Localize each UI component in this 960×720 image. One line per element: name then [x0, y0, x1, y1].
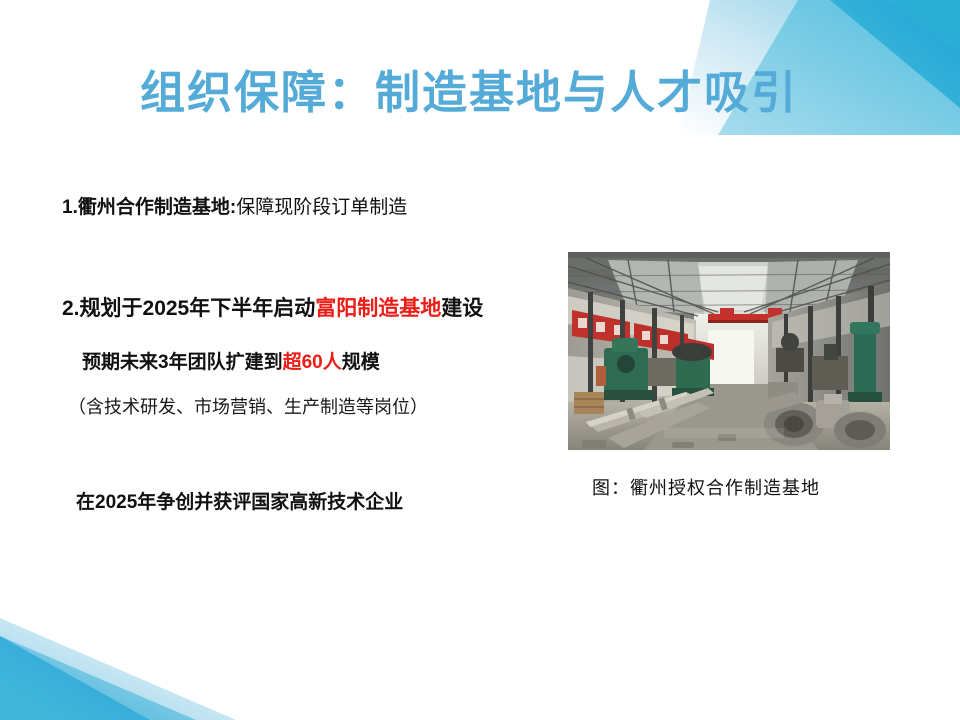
sub-1-highlight: 超60人: [283, 352, 342, 373]
bullet-item-2: 2.规划于2025年下半年启动富阳制造基地建设: [62, 296, 483, 322]
sub-1-prefix: 预期未来3年团队扩建到: [82, 352, 283, 373]
bullet-item-2-suffix: 建设: [441, 297, 483, 320]
decoration-bottom-left: [0, 590, 260, 720]
slide: 组织保障：制造基地与人才吸引 1.衢州合作制造基地:保障现阶段订单制造 2.规划…: [0, 0, 960, 720]
bullet-item-2-highlight: 富阳制造基地: [315, 297, 441, 320]
bullet-item-2-sub-1: 预期未来3年团队扩建到超60人规模: [82, 351, 380, 375]
bullet-item-1-detail: 保障现阶段订单制造: [236, 197, 407, 218]
sub-1-suffix: 规模: [342, 352, 380, 373]
figure-caption: 图：衢州授权合作制造基地: [592, 474, 820, 500]
bullet-item-2-prefix: 2.规划于2025年下半年启动: [62, 297, 315, 320]
bullet-item-2-sub-2: （含技术研发、市场营销、生产制造等岗位）: [68, 396, 428, 419]
bullet-item-1-label: 1.衢州合作制造基地:: [62, 197, 236, 218]
bullet-item-3: 在2025年争创并获评国家高新技术企业: [76, 491, 403, 515]
bullet-item-1: 1.衢州合作制造基地:保障现阶段订单制造: [62, 196, 407, 220]
slide-title: 组织保障：制造基地与人才吸引: [140, 66, 798, 120]
factory-photo: [568, 252, 890, 450]
factory-photo-image: [568, 252, 890, 450]
